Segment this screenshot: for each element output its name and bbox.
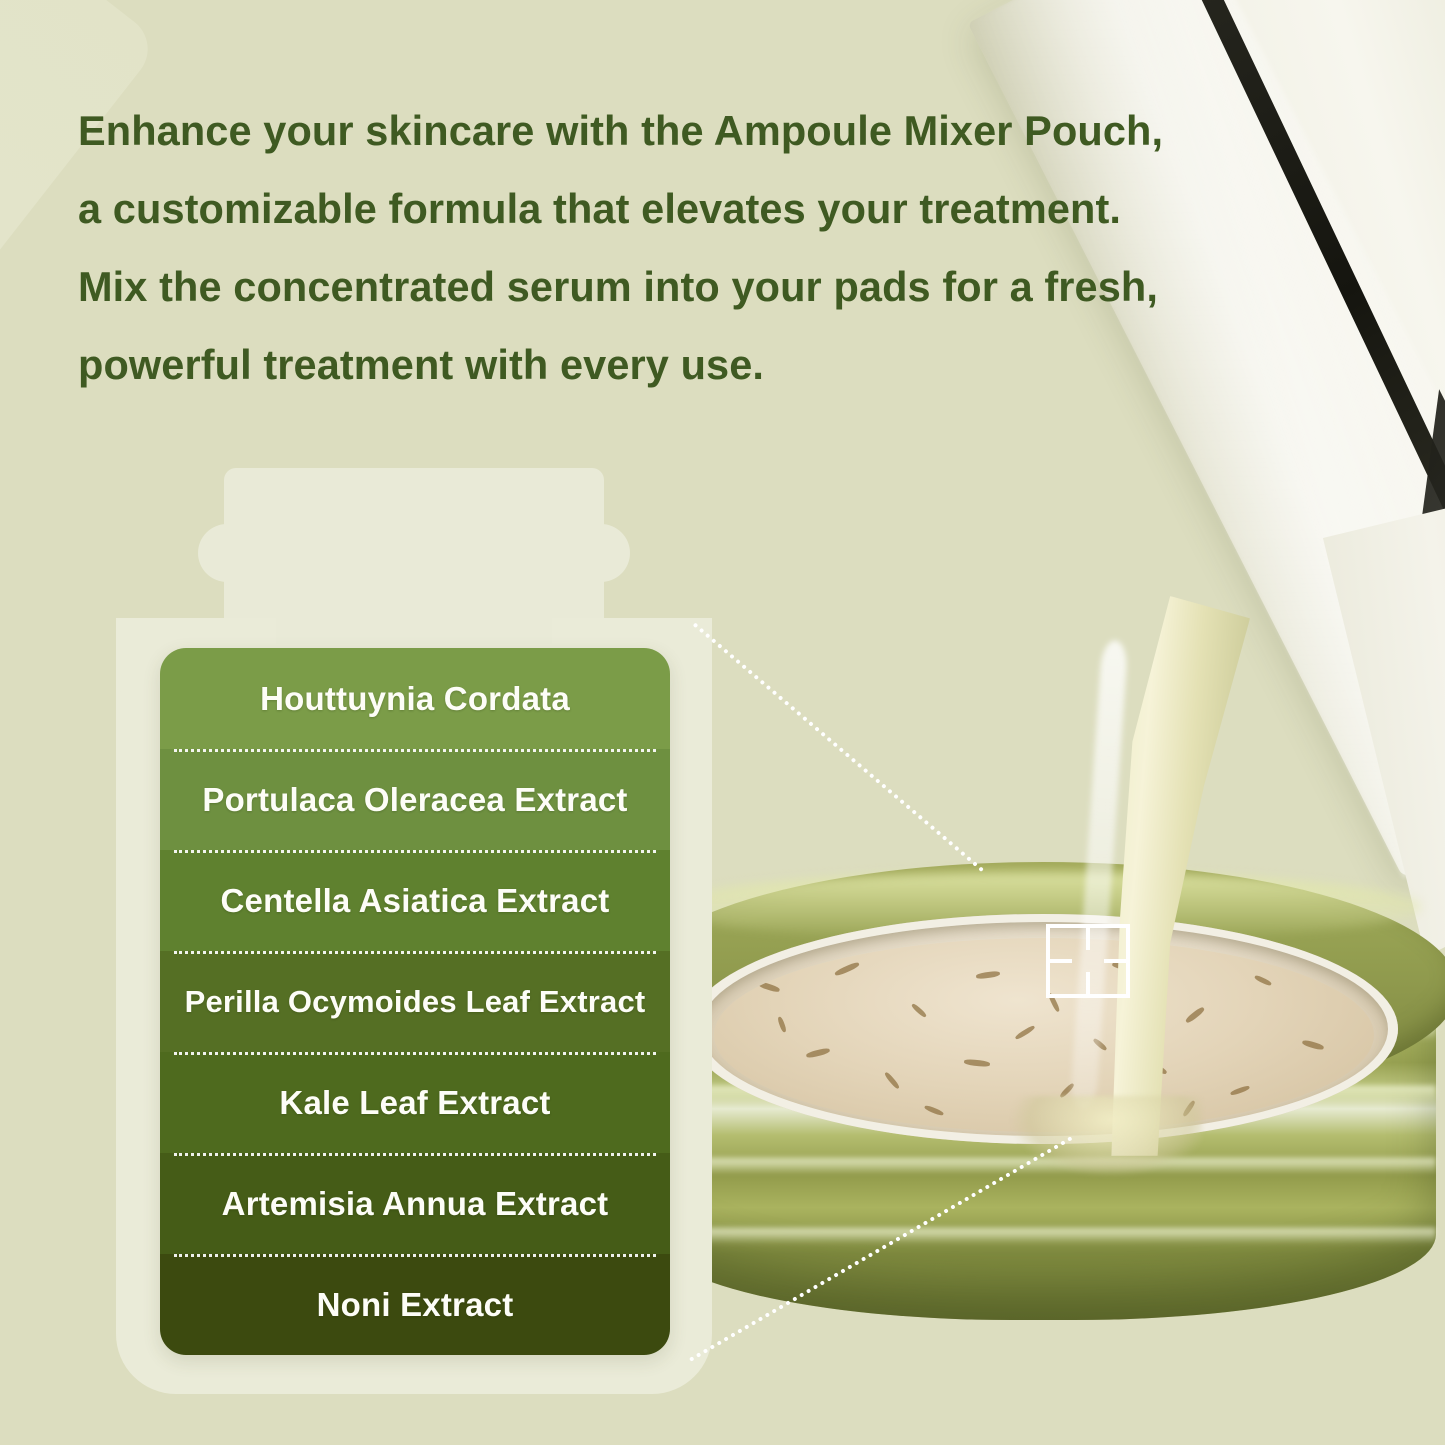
ingredient-row: Houttuynia Cordata: [160, 648, 670, 749]
ingredient-label: Centella Asiatica Extract: [221, 882, 610, 920]
ingredient-label: Portulaca Oleracea Extract: [202, 781, 627, 819]
ingredient-row: Artemisia Annua Extract: [160, 1153, 670, 1254]
ingredient-row: Perilla Ocymoides Leaf Extract: [160, 951, 670, 1052]
page-headline: Enhance your skincare with the Ampoule M…: [78, 92, 1388, 404]
headline-line: Mix the concentrated serum into your pad…: [78, 248, 1388, 326]
ingredient-label: Houttuynia Cordata: [260, 680, 570, 718]
ingredient-row: Centella Asiatica Extract: [160, 850, 670, 951]
serum-splash: [1012, 1096, 1202, 1176]
focus-tick-bottom: [1086, 972, 1090, 994]
focus-tick-top: [1086, 928, 1090, 950]
ingredient-list: Houttuynia CordataPortulaca Oleracea Ext…: [160, 648, 670, 1355]
ingredient-label: Perilla Ocymoides Leaf Extract: [185, 984, 646, 1020]
ingredient-row: Noni Extract: [160, 1254, 670, 1355]
ingredient-row: Kale Leaf Extract: [160, 1052, 670, 1153]
jar-highlight-band: [650, 1228, 1436, 1244]
product-infographic: Enhance your skincare with the Ampoule M…: [0, 0, 1445, 1445]
headline-line: Enhance your skincare with the Ampoule M…: [78, 92, 1388, 170]
ingredient-label: Kale Leaf Extract: [279, 1084, 550, 1122]
ingredient-row: Portulaca Oleracea Extract: [160, 749, 670, 850]
focus-tick-left: [1050, 959, 1072, 963]
magnifier-focus-box[interactable]: [1046, 924, 1130, 998]
ingredient-label: Artemisia Annua Extract: [222, 1185, 609, 1223]
ingredient-label: Noni Extract: [317, 1286, 514, 1324]
focus-tick-right: [1104, 959, 1126, 963]
headline-line: powerful treatment with every use.: [78, 326, 1388, 404]
headline-line: a customizable formula that elevates you…: [78, 170, 1388, 248]
